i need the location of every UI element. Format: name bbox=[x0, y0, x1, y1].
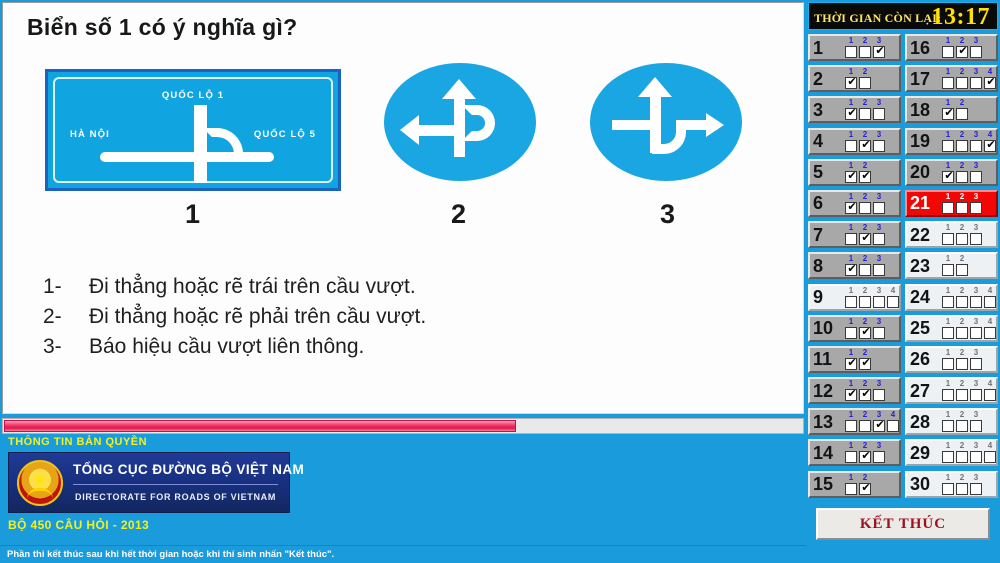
answer-option-label: 1 bbox=[946, 193, 950, 201]
checkbox-empty[interactable] bbox=[873, 108, 885, 120]
answer-option-label: 2 bbox=[863, 442, 867, 450]
checkbox-empty[interactable] bbox=[970, 358, 982, 370]
answer-option-1[interactable]: 1 bbox=[942, 287, 954, 308]
horizontal-scrollbar[interactable] bbox=[2, 418, 804, 434]
answer-option-3[interactable]: 3 bbox=[970, 37, 982, 58]
checkmark-icon[interactable] bbox=[873, 420, 885, 432]
checkmark-icon[interactable] bbox=[845, 389, 857, 401]
answer-option-label: 2 bbox=[960, 442, 964, 450]
answer-option-3[interactable]: 3 bbox=[873, 99, 885, 120]
checkbox-empty[interactable] bbox=[970, 202, 982, 214]
answer-option-3[interactable]: 3 bbox=[970, 193, 982, 214]
answer-option-label: 1 bbox=[946, 349, 950, 357]
checkbox-empty[interactable] bbox=[942, 483, 954, 495]
checkbox-empty[interactable] bbox=[970, 389, 982, 401]
answer-option-3[interactable]: 3 bbox=[970, 287, 982, 308]
checkbox-empty[interactable] bbox=[942, 140, 954, 152]
question-cell-number: 17 bbox=[910, 70, 940, 88]
checkbox-empty[interactable] bbox=[942, 233, 954, 245]
answer-option-2[interactable]: 2 bbox=[859, 442, 871, 463]
checkmark-icon[interactable] bbox=[859, 140, 871, 152]
checkbox-empty[interactable] bbox=[859, 108, 871, 120]
answer-option-1[interactable]: 1 bbox=[845, 287, 857, 308]
checkbox-empty[interactable] bbox=[873, 233, 885, 245]
checkbox-empty[interactable] bbox=[845, 46, 857, 58]
answer-option-label: 4 bbox=[988, 287, 992, 295]
answer-option-2[interactable]: 2 bbox=[859, 380, 871, 401]
question-cell-number: 15 bbox=[813, 475, 843, 493]
answer-option-label: 4 bbox=[988, 318, 992, 326]
remaining-time-value: 13:17 bbox=[932, 4, 991, 30]
answer-option-3[interactable]: 3 bbox=[970, 318, 982, 339]
answer-option-label: 3 bbox=[877, 131, 881, 139]
answer-option-4[interactable]: 4 bbox=[887, 287, 899, 308]
checkbox-empty[interactable] bbox=[942, 451, 954, 463]
answer-option-1[interactable]: 1 bbox=[942, 411, 954, 432]
checkmark-icon[interactable] bbox=[845, 108, 857, 120]
checkbox-empty[interactable] bbox=[970, 140, 982, 152]
answer-option-3[interactable]: 3 bbox=[970, 411, 982, 432]
sign-1-horizontal-road bbox=[100, 152, 274, 162]
finish-button[interactable]: KẾT THÚC bbox=[816, 508, 990, 540]
question-cell-14[interactable]: 14123 bbox=[808, 439, 901, 466]
checkmark-icon[interactable] bbox=[859, 451, 871, 463]
answer-option-label: 2 bbox=[863, 318, 867, 326]
checkbox-empty[interactable] bbox=[942, 46, 954, 58]
checkmark-icon[interactable] bbox=[859, 171, 871, 183]
answer-checkbox-group: 12 bbox=[942, 255, 968, 276]
answer-option-label: 4 bbox=[988, 442, 992, 450]
answer-option-2[interactable]: 2 bbox=[859, 99, 871, 120]
question-cell-25[interactable]: 251234 bbox=[905, 315, 998, 342]
checkbox-empty[interactable] bbox=[956, 420, 968, 432]
question-cell-16[interactable]: 16123 bbox=[905, 34, 998, 61]
question-cell-28[interactable]: 28123 bbox=[905, 408, 998, 435]
answer-option-1[interactable]: 1 bbox=[845, 380, 857, 401]
question-cell-30[interactable]: 30123 bbox=[905, 471, 998, 498]
answer-option-4[interactable]: 4 bbox=[984, 131, 996, 152]
checkbox-empty[interactable] bbox=[859, 296, 871, 308]
checkbox-empty[interactable] bbox=[956, 264, 968, 276]
question-cell-9[interactable]: 91234 bbox=[808, 284, 901, 311]
answer-option-1[interactable]: 1 bbox=[845, 193, 857, 214]
answer-option-3[interactable]: 3 bbox=[873, 224, 885, 245]
answer-option-label: 3 bbox=[974, 224, 978, 232]
answer-option-3[interactable]: 3 bbox=[970, 349, 982, 370]
answer-option-4[interactable]: 4 bbox=[887, 411, 899, 432]
answer-2-number: 2- bbox=[43, 305, 89, 329]
answer-option-1[interactable]: 1 bbox=[845, 37, 857, 58]
question-cell-number: 19 bbox=[910, 132, 940, 150]
question-cell-13[interactable]: 131234 bbox=[808, 408, 901, 435]
checkbox-empty[interactable] bbox=[887, 296, 899, 308]
checkbox-empty[interactable] bbox=[956, 108, 968, 120]
answer-option-2[interactable]: 2 bbox=[859, 162, 871, 183]
checkbox-empty[interactable] bbox=[873, 264, 885, 276]
question-cell-11[interactable]: 1112 bbox=[808, 346, 901, 373]
answer-option-1[interactable]: 1 bbox=[845, 442, 857, 463]
question-cell-7[interactable]: 7123 bbox=[808, 221, 901, 248]
checkbox-empty[interactable] bbox=[956, 140, 968, 152]
checkmark-icon[interactable] bbox=[845, 358, 857, 370]
answer-option-1[interactable]: 1 bbox=[845, 68, 857, 89]
answer-option-1[interactable]: 1 bbox=[942, 442, 954, 463]
question-cell-17[interactable]: 171234 bbox=[905, 65, 998, 92]
checkbox-empty[interactable] bbox=[873, 451, 885, 463]
checkbox-empty[interactable] bbox=[956, 77, 968, 89]
sign-2-loop-ramp bbox=[462, 105, 495, 141]
answer-option-1[interactable]: 1 bbox=[845, 162, 857, 183]
answer-option-label: 2 bbox=[960, 255, 964, 263]
banner-divider bbox=[73, 484, 278, 485]
answer-option-label: 1 bbox=[849, 380, 853, 388]
horizontal-scrollbar-thumb[interactable] bbox=[4, 420, 516, 432]
checkbox-empty[interactable] bbox=[873, 389, 885, 401]
copyright-label: THÔNG TIN BẢN QUYỀN bbox=[8, 436, 147, 448]
answer-option-label: 3 bbox=[974, 287, 978, 295]
answer-option-2[interactable]: 2 bbox=[956, 287, 968, 308]
answer-checkbox-group: 123 bbox=[942, 474, 982, 495]
answer-option-label: 1 bbox=[946, 68, 950, 76]
checkbox-empty[interactable] bbox=[845, 233, 857, 245]
checkbox-empty[interactable] bbox=[956, 451, 968, 463]
answer-option-1[interactable]: 1 bbox=[845, 318, 857, 339]
checkmark-icon[interactable] bbox=[845, 171, 857, 183]
checkbox-empty[interactable] bbox=[845, 296, 857, 308]
checkbox-empty[interactable] bbox=[873, 327, 885, 339]
answer-option-label: 1 bbox=[849, 318, 853, 326]
answer-option-2[interactable]: 2 bbox=[859, 224, 871, 245]
checkbox-empty[interactable] bbox=[970, 77, 982, 89]
answer-option-1[interactable]: 1 bbox=[942, 349, 954, 370]
checkmark-icon[interactable] bbox=[984, 77, 996, 89]
answer-option-label: 2 bbox=[960, 380, 964, 388]
checkmark-icon[interactable] bbox=[845, 202, 857, 214]
checkmark-icon[interactable] bbox=[873, 46, 885, 58]
checkbox-empty[interactable] bbox=[956, 233, 968, 245]
question-cell-number: 23 bbox=[910, 257, 940, 275]
question-cell-number: 13 bbox=[813, 413, 843, 431]
answer-option-label: 2 bbox=[960, 131, 964, 139]
answer-option-3[interactable]: 3 bbox=[970, 442, 982, 463]
question-cell-number: 7 bbox=[813, 226, 843, 244]
answer-option-3[interactable]: 3 bbox=[970, 474, 982, 495]
answer-option-3[interactable]: 3 bbox=[970, 131, 982, 152]
answer-option-2[interactable]: 2 bbox=[859, 411, 871, 432]
checkbox-empty[interactable] bbox=[970, 233, 982, 245]
sign-3-up-arrow-stem bbox=[650, 91, 661, 153]
answer-option-2[interactable]: 2 bbox=[859, 318, 871, 339]
answer-option-label: 2 bbox=[960, 224, 964, 232]
answer-option-label: 3 bbox=[877, 255, 881, 263]
question-cell-number: 27 bbox=[910, 382, 940, 400]
checkmark-icon[interactable] bbox=[984, 140, 996, 152]
answer-option-label: 2 bbox=[863, 162, 867, 170]
question-cell-26[interactable]: 26123 bbox=[905, 346, 998, 373]
checkbox-empty[interactable] bbox=[956, 483, 968, 495]
answer-checkbox-group: 123 bbox=[845, 442, 885, 463]
answer-checkbox-group: 1234 bbox=[845, 287, 899, 308]
answer-option-1[interactable]: 1 bbox=[845, 255, 857, 276]
checkmark-icon[interactable] bbox=[942, 171, 954, 183]
answer-option-1[interactable]: 1 bbox=[942, 224, 954, 245]
question-cell-12[interactable]: 12123 bbox=[808, 377, 901, 404]
answer-option-label: 3 bbox=[877, 411, 881, 419]
answer-option-2[interactable]: 2 bbox=[859, 131, 871, 152]
answer-option-3[interactable]: 3- Báo hiệu cầu vượt liên thông. bbox=[43, 335, 426, 359]
answer-option-1[interactable]: 1 bbox=[845, 349, 857, 370]
answer-options-list: 1- Đi thẳng hoặc rẽ trái trên cầu vượt. … bbox=[43, 275, 426, 365]
question-cell-number: 14 bbox=[813, 444, 843, 462]
answer-option-2[interactable]: 2 bbox=[956, 37, 968, 58]
answer-option-3[interactable]: 3 bbox=[873, 318, 885, 339]
checkbox-empty[interactable] bbox=[984, 296, 996, 308]
answer-option-2[interactable]: 2 bbox=[956, 318, 968, 339]
answer-option-label: 2 bbox=[960, 287, 964, 295]
answer-option-label: 4 bbox=[988, 68, 992, 76]
checkbox-empty[interactable] bbox=[859, 420, 871, 432]
answer-option-2[interactable]: 2 bbox=[859, 255, 871, 276]
answer-option-1[interactable]: 1 bbox=[942, 37, 954, 58]
question-cell-10[interactable]: 10123 bbox=[808, 315, 901, 342]
answer-option-3[interactable]: 3 bbox=[873, 380, 885, 401]
question-cell-8[interactable]: 8123 bbox=[808, 252, 901, 279]
answer-option-1[interactable]: 1 bbox=[942, 193, 954, 214]
checkbox-empty[interactable] bbox=[956, 327, 968, 339]
answer-option-label: 3 bbox=[877, 380, 881, 388]
answer-option-1[interactable]: 1 bbox=[942, 68, 954, 89]
answer-option-2[interactable]: 2 bbox=[956, 442, 968, 463]
checkbox-empty[interactable] bbox=[845, 327, 857, 339]
answer-option-label: 3 bbox=[974, 162, 978, 170]
answer-option-2[interactable]: 2- Đi thẳng hoặc rẽ phải trên cầu vượt. bbox=[43, 305, 426, 329]
answer-checkbox-group: 123 bbox=[845, 255, 885, 276]
answer-option-2[interactable]: 2 bbox=[956, 68, 968, 89]
question-cell-3[interactable]: 3123 bbox=[808, 96, 901, 123]
checkbox-empty[interactable] bbox=[942, 264, 954, 276]
checkmark-icon[interactable] bbox=[859, 483, 871, 495]
question-cell-20[interactable]: 20123 bbox=[905, 159, 998, 186]
answer-option-4[interactable]: 4 bbox=[984, 380, 996, 401]
checkbox-empty[interactable] bbox=[873, 202, 885, 214]
answer-option-2[interactable]: 2 bbox=[859, 474, 871, 495]
checkbox-empty[interactable] bbox=[970, 327, 982, 339]
answer-option-3[interactable]: 3 bbox=[873, 193, 885, 214]
checkbox-empty[interactable] bbox=[845, 140, 857, 152]
answer-option-3[interactable]: 3 bbox=[970, 162, 982, 183]
checkmark-icon[interactable] bbox=[845, 77, 857, 89]
question-cell-19[interactable]: 191234 bbox=[905, 128, 998, 155]
sign-1-top-label: QUỐC LỘ 1 bbox=[162, 90, 224, 101]
checkbox-empty[interactable] bbox=[984, 451, 996, 463]
checkmark-icon[interactable] bbox=[845, 264, 857, 276]
checkbox-empty[interactable] bbox=[970, 46, 982, 58]
answer-option-2[interactable]: 2 bbox=[956, 162, 968, 183]
checkbox-empty[interactable] bbox=[956, 202, 968, 214]
checkmark-icon[interactable] bbox=[859, 233, 871, 245]
answer-option-1[interactable]: 1 bbox=[845, 474, 857, 495]
answer-option-label: 3 bbox=[974, 131, 978, 139]
question-cell-23[interactable]: 2312 bbox=[905, 252, 998, 279]
checkbox-empty[interactable] bbox=[956, 296, 968, 308]
answer-option-label: 2 bbox=[863, 349, 867, 357]
answer-option-label: 1 bbox=[946, 162, 950, 170]
checkbox-empty[interactable] bbox=[956, 389, 968, 401]
checkbox-empty[interactable] bbox=[942, 420, 954, 432]
checkbox-empty[interactable] bbox=[845, 451, 857, 463]
answer-option-label: 2 bbox=[863, 68, 867, 76]
answer-option-3[interactable]: 3 bbox=[970, 380, 982, 401]
answer-option-1[interactable]: 1 bbox=[942, 162, 954, 183]
answer-option-2[interactable]: 2 bbox=[956, 380, 968, 401]
checkbox-empty[interactable] bbox=[942, 327, 954, 339]
checkbox-empty[interactable] bbox=[942, 77, 954, 89]
agency-logo-banner: ★ TỔNG CỤC ĐƯỜNG BỘ VIỆT NAM DIRECTORATE… bbox=[8, 452, 290, 513]
answer-option-label: 2 bbox=[863, 37, 867, 45]
answer-checkbox-group: 1234 bbox=[942, 380, 996, 401]
answer-option-3[interactable]: 3 bbox=[873, 37, 885, 58]
answer-option-2[interactable]: 2 bbox=[956, 99, 968, 120]
answer-option-3[interactable]: 3 bbox=[970, 224, 982, 245]
answer-option-label: 1 bbox=[946, 380, 950, 388]
answer-option-4[interactable]: 4 bbox=[984, 68, 996, 89]
answer-checkbox-group: 123 bbox=[942, 349, 982, 370]
checkbox-empty[interactable] bbox=[859, 264, 871, 276]
checkbox-empty[interactable] bbox=[942, 296, 954, 308]
checkbox-empty[interactable] bbox=[942, 202, 954, 214]
answer-option-1[interactable]: 1 bbox=[845, 131, 857, 152]
question-cell-5[interactable]: 512 bbox=[808, 159, 901, 186]
question-cell-number: 6 bbox=[813, 194, 843, 212]
answer-option-2[interactable]: 2 bbox=[956, 411, 968, 432]
answer-option-4[interactable]: 4 bbox=[984, 318, 996, 339]
answer-option-2[interactable]: 2 bbox=[956, 349, 968, 370]
question-cell-24[interactable]: 241234 bbox=[905, 284, 998, 311]
answer-option-3[interactable]: 3 bbox=[873, 442, 885, 463]
answer-option-2[interactable]: 2 bbox=[859, 68, 871, 89]
answer-option-3[interactable]: 3 bbox=[873, 131, 885, 152]
remaining-time-display: THỜI GIAN CÒN LẠI: 13:17 bbox=[808, 2, 998, 30]
answer-option-label: 1 bbox=[849, 68, 853, 76]
checkbox-empty[interactable] bbox=[984, 389, 996, 401]
checkbox-empty[interactable] bbox=[859, 46, 871, 58]
question-cell-21[interactable]: 21123 bbox=[905, 190, 998, 217]
question-cell-number: 20 bbox=[910, 163, 940, 181]
answer-option-2[interactable]: 2 bbox=[859, 287, 871, 308]
checkmark-icon[interactable] bbox=[859, 327, 871, 339]
answer-option-3[interactable]: 3 bbox=[873, 411, 885, 432]
answer-option-1[interactable]: 1 bbox=[845, 99, 857, 120]
answer-option-1[interactable]: 1 bbox=[942, 474, 954, 495]
sign-1-right-label: QUỐC LỘ 5 bbox=[254, 129, 316, 140]
answer-checkbox-group: 12 bbox=[942, 99, 968, 120]
checkmark-icon[interactable] bbox=[859, 358, 871, 370]
answer-option-label: 3 bbox=[974, 37, 978, 45]
checkmark-icon[interactable] bbox=[956, 46, 968, 58]
question-cell-1[interactable]: 1123 bbox=[808, 34, 901, 61]
answer-checkbox-group: 1234 bbox=[942, 442, 996, 463]
answer-option-1[interactable]: 1 bbox=[845, 224, 857, 245]
answer-option-label: 1 bbox=[946, 131, 950, 139]
answer-option-3[interactable]: 3 bbox=[873, 287, 885, 308]
checkbox-empty[interactable] bbox=[845, 420, 857, 432]
question-cell-18[interactable]: 1812 bbox=[905, 96, 998, 123]
checkbox-empty[interactable] bbox=[942, 389, 954, 401]
answer-option-2[interactable]: 2 bbox=[859, 349, 871, 370]
answer-option-4[interactable]: 4 bbox=[984, 442, 996, 463]
question-cell-number: 12 bbox=[813, 382, 843, 400]
checkbox-empty[interactable] bbox=[970, 171, 982, 183]
checkbox-empty[interactable] bbox=[970, 451, 982, 463]
answer-option-2[interactable]: 2 bbox=[859, 193, 871, 214]
checkmark-icon[interactable] bbox=[942, 108, 954, 120]
answer-checkbox-group: 1234 bbox=[942, 287, 996, 308]
answer-option-2[interactable]: 2 bbox=[956, 193, 968, 214]
answer-option-label: 3 bbox=[877, 37, 881, 45]
question-cell-27[interactable]: 271234 bbox=[905, 377, 998, 404]
checkbox-empty[interactable] bbox=[887, 420, 899, 432]
answer-option-2[interactable]: 2 bbox=[956, 255, 968, 276]
answer-option-label: 3 bbox=[974, 442, 978, 450]
checkbox-empty[interactable] bbox=[984, 327, 996, 339]
answer-option-1[interactable]: 1 bbox=[942, 255, 954, 276]
checkbox-empty[interactable] bbox=[845, 483, 857, 495]
answer-option-3[interactable]: 3 bbox=[873, 255, 885, 276]
answer-option-label: 1 bbox=[849, 349, 853, 357]
checkbox-empty[interactable] bbox=[942, 358, 954, 370]
question-cell-6[interactable]: 6123 bbox=[808, 190, 901, 217]
answer-1-text: Đi thẳng hoặc rẽ trái trên cầu vượt. bbox=[89, 275, 416, 299]
answer-option-1[interactable]: 1 bbox=[942, 318, 954, 339]
answer-option-1[interactable]: 1 bbox=[942, 380, 954, 401]
checkbox-empty[interactable] bbox=[859, 77, 871, 89]
question-cell-4[interactable]: 4123 bbox=[808, 128, 901, 155]
question-cell-number: 9 bbox=[813, 288, 843, 306]
answer-option-1[interactable]: 1 bbox=[942, 99, 954, 120]
answer-option-label: 3 bbox=[974, 68, 978, 76]
question-cell-22[interactable]: 22123 bbox=[905, 221, 998, 248]
checkbox-empty[interactable] bbox=[873, 140, 885, 152]
answer-option-1[interactable]: 1 bbox=[845, 411, 857, 432]
question-cell-29[interactable]: 291234 bbox=[905, 439, 998, 466]
answer-option-1[interactable]: 1- Đi thẳng hoặc rẽ trái trên cầu vượt. bbox=[43, 275, 426, 299]
star-icon: ★ bbox=[33, 473, 46, 488]
answer-option-3[interactable]: 3 bbox=[970, 68, 982, 89]
sign-2-up-arrow-stem bbox=[454, 93, 465, 157]
answer-option-2[interactable]: 2 bbox=[956, 474, 968, 495]
answer-option-label: 2 bbox=[960, 68, 964, 76]
answer-option-2[interactable]: 2 bbox=[956, 224, 968, 245]
answer-option-4[interactable]: 4 bbox=[984, 287, 996, 308]
answer-option-1[interactable]: 1 bbox=[942, 131, 954, 152]
question-cell-number: 1 bbox=[813, 39, 843, 57]
checkmark-icon[interactable] bbox=[859, 389, 871, 401]
question-cell-number: 25 bbox=[910, 319, 940, 337]
checkbox-empty[interactable] bbox=[970, 483, 982, 495]
answer-option-2[interactable]: 2 bbox=[956, 131, 968, 152]
checkbox-empty[interactable] bbox=[873, 296, 885, 308]
checkbox-empty[interactable] bbox=[956, 358, 968, 370]
answer-option-label: 2 bbox=[960, 193, 964, 201]
question-cell-2[interactable]: 212 bbox=[808, 65, 901, 92]
answer-option-label: 1 bbox=[946, 411, 950, 419]
checkbox-empty[interactable] bbox=[859, 202, 871, 214]
checkbox-empty[interactable] bbox=[956, 171, 968, 183]
checkbox-empty[interactable] bbox=[970, 296, 982, 308]
question-cell-15[interactable]: 1512 bbox=[808, 471, 901, 498]
checkbox-empty[interactable] bbox=[970, 420, 982, 432]
answer-option-2[interactable]: 2 bbox=[859, 37, 871, 58]
